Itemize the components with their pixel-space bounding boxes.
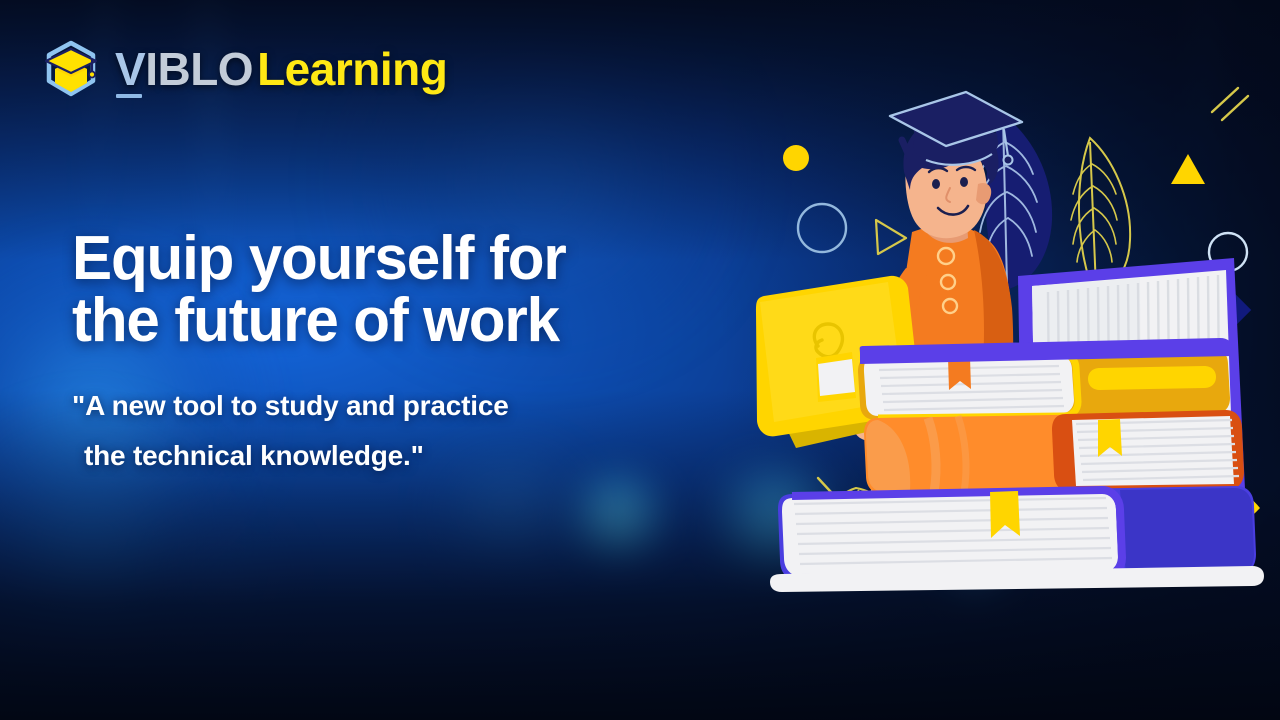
headline-line-2: the future of work xyxy=(72,290,566,352)
brand-name-learning: Learning xyxy=(257,46,447,92)
headline-line-1: Equip yourself for xyxy=(72,228,566,290)
yellow-triangle-filled-icon xyxy=(1171,154,1205,184)
hero-subtitle: "A new tool to study and practice the te… xyxy=(72,381,509,481)
hero-illustration xyxy=(760,80,1280,600)
brand-logo[interactable]: VIBLO Learning xyxy=(40,36,447,102)
yellow-dot-icon xyxy=(783,145,809,171)
yellow-diagonal-lines-icon xyxy=(1212,88,1248,120)
subtitle-line-2: the technical knowledge." xyxy=(72,431,509,481)
yellow-triangle-outline-icon xyxy=(876,220,906,254)
hero-headline: Equip yourself for the future of work xyxy=(72,228,581,352)
brand-v-glyph: V xyxy=(115,46,145,92)
graduation-cap-shield-icon xyxy=(40,36,102,102)
blue-book-icon xyxy=(770,486,1264,592)
subtitle-line-1: "A new tool to study and practice xyxy=(72,381,509,431)
hero-banner: VIBLO Learning Equip yourself for the fu… xyxy=(0,0,1280,720)
yellow-book-icon xyxy=(816,338,1232,420)
character-eye-right xyxy=(960,177,968,187)
lightblue-circle-outline-icon xyxy=(798,204,846,252)
brand-name-viblo: VIBLO xyxy=(115,46,253,92)
student-studying-illustration xyxy=(760,80,1280,600)
brand-name-viblo-rest: IBLO xyxy=(145,43,253,95)
orange-book-icon xyxy=(864,410,1244,494)
brand-wordmark: VIBLO Learning xyxy=(115,46,447,92)
character-eye-left xyxy=(932,179,940,189)
